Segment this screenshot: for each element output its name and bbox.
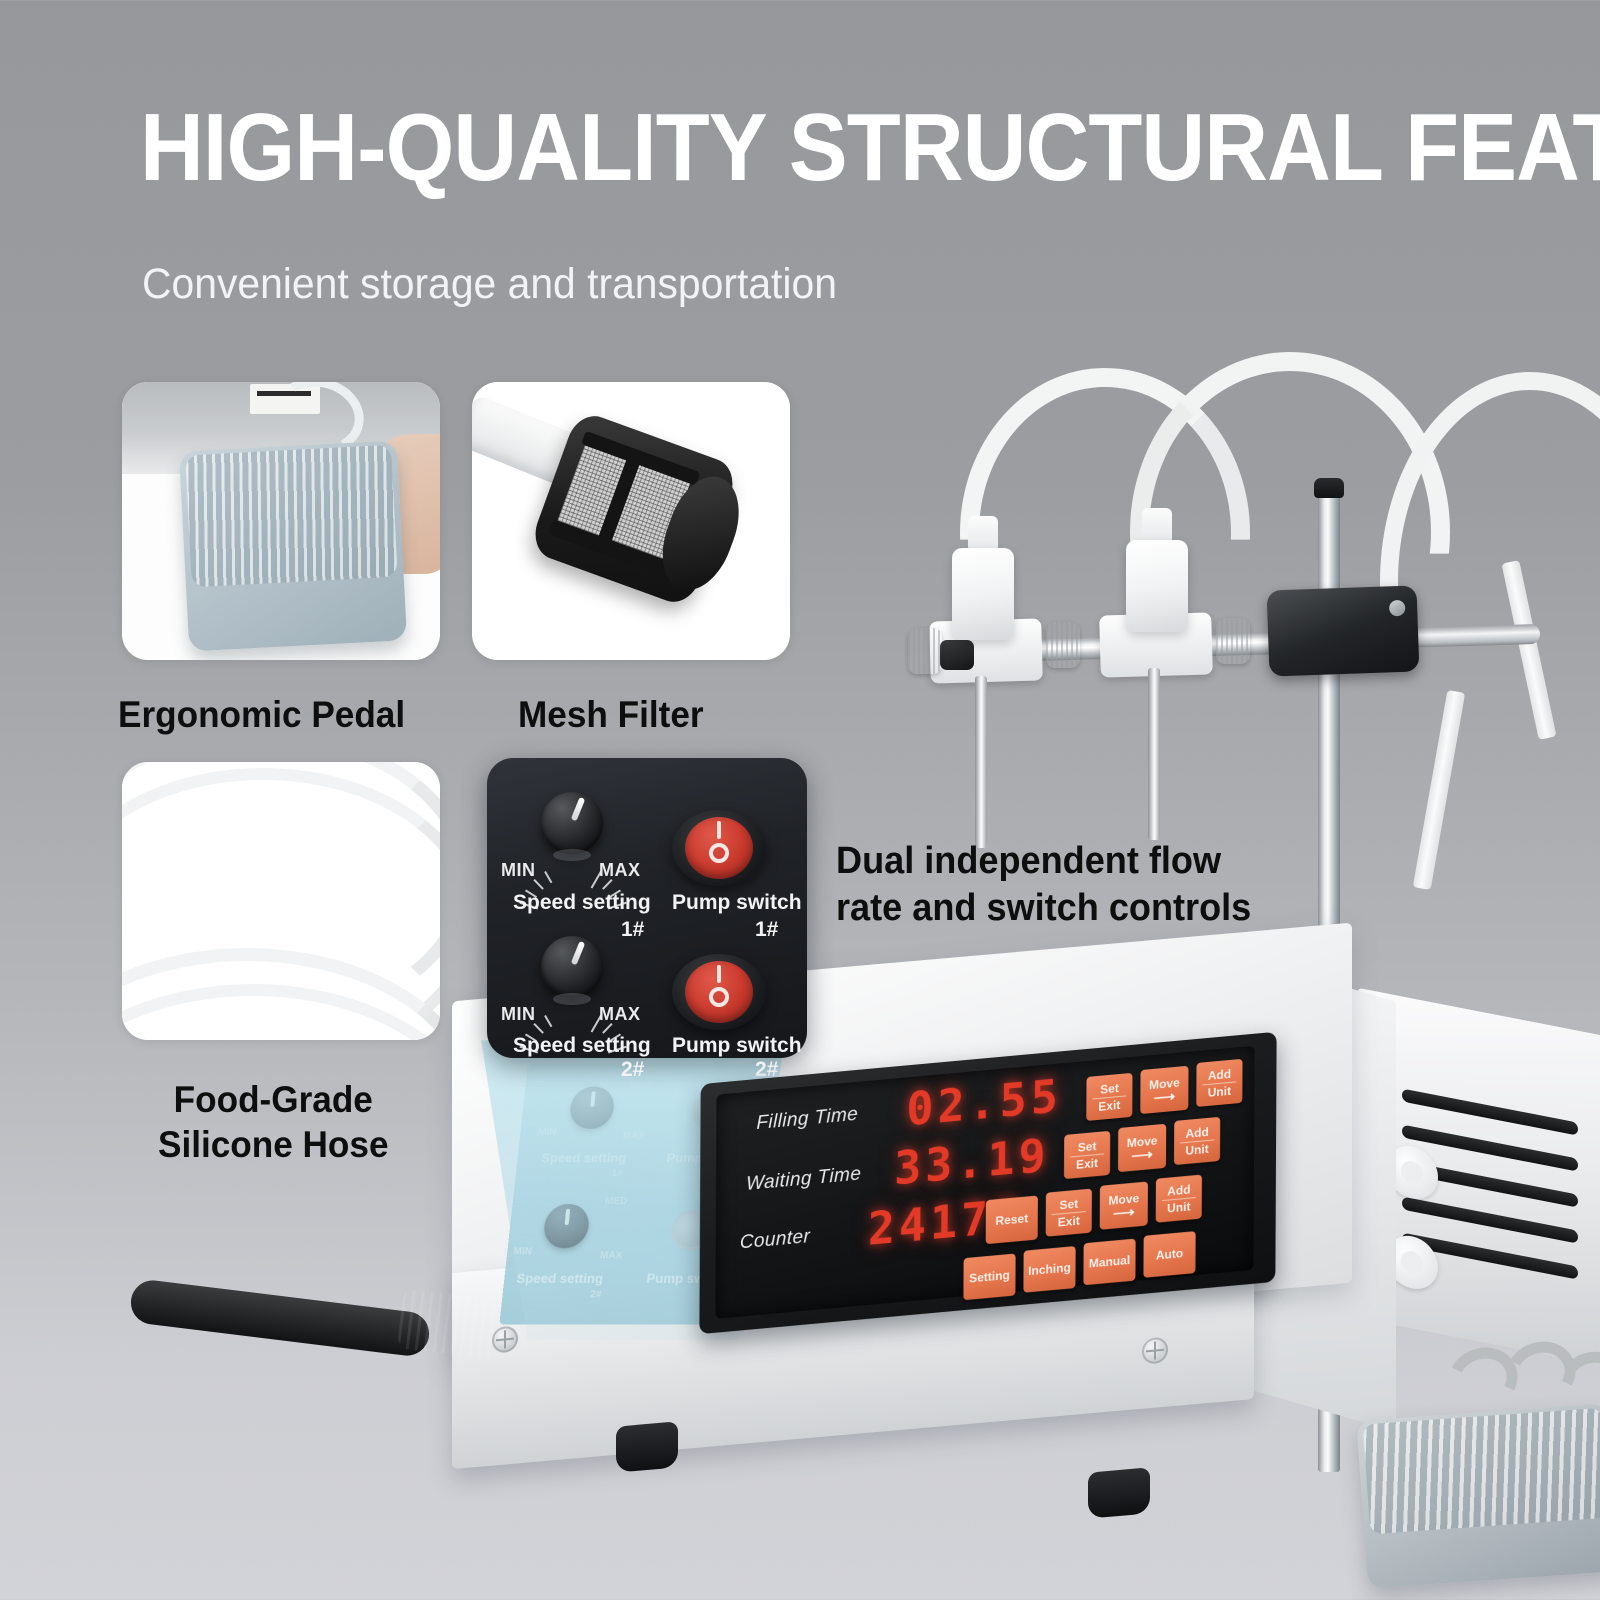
move-button-row2[interactable]: Move ⟶: [1118, 1124, 1166, 1172]
led-label-counter: Counter: [740, 1226, 811, 1254]
set-exit-button-row3[interactable]: Set Exit: [1046, 1189, 1092, 1237]
add-unit-button-row3[interactable]: Add Unit: [1156, 1175, 1202, 1223]
foot-pedal[interactable]: [1356, 1403, 1600, 1588]
silicone-tube-leg: [1413, 690, 1465, 890]
stand-post-cap: [1314, 478, 1344, 498]
speed-setting-label-1: Speed setting: [513, 891, 651, 915]
vent-slot: [1402, 1088, 1578, 1135]
switch-off-mark: [709, 843, 729, 863]
led-label-filling-time: Filling Time: [756, 1104, 858, 1135]
add-label: Add: [1167, 1182, 1190, 1198]
set-label: Set: [1100, 1081, 1119, 1097]
move-button-row3[interactable]: Move ⟶: [1100, 1181, 1148, 1229]
led-value-filling-time: 02.55: [906, 1069, 1062, 1136]
vent-slot: [1402, 1196, 1578, 1243]
pump-switch-1[interactable]: [672, 810, 766, 886]
unit-label: Unit: [1208, 1083, 1231, 1099]
auto-label: Auto: [1156, 1246, 1183, 1262]
feature-thumbnail-mesh-filter: [472, 382, 790, 660]
post-clamp-block[interactable]: [1267, 585, 1420, 676]
caption-silicone-hose: Food-Grade Silicone Hose: [158, 1077, 389, 1167]
setting-label: Setting: [969, 1268, 1010, 1286]
caption-dual-flow-line1: Dual independent flow: [836, 838, 1251, 885]
filling-needle-2: [1148, 668, 1160, 840]
switch-on-mark: [717, 965, 721, 983]
pump-switch-label-1: Pump switch: [672, 891, 802, 915]
add-unit-button-row1[interactable]: Add Unit: [1196, 1059, 1242, 1107]
mode-button-inching[interactable]: Inching: [1023, 1246, 1075, 1293]
page-title: HIGH-QUALITY STRUCTURAL FEATURES: [140, 96, 1410, 200]
control-panel-callout: MIN MAX Speed setting 1# Pump switch 1#: [487, 758, 807, 1058]
speed-setting-label-2: Speed setting: [513, 1034, 651, 1058]
exit-label: Exit: [1098, 1097, 1120, 1113]
switch-off-mark: [709, 987, 729, 1007]
led-control-display[interactable]: Filling Time 02.55 Set Exit Move ⟶ Add U…: [699, 1032, 1276, 1335]
pedal-photo-body: [179, 440, 407, 651]
move-arrow-icon: ⟶: [1154, 1089, 1176, 1104]
mode-button-manual[interactable]: Manual: [1083, 1239, 1135, 1286]
set-label: Set: [1078, 1139, 1097, 1155]
set-exit-button-row1[interactable]: Set Exit: [1086, 1073, 1132, 1121]
knob-max-label-2: MAX: [599, 1004, 641, 1025]
exit-label: Exit: [1076, 1155, 1098, 1171]
move-arrow-icon: ⟶: [1113, 1205, 1135, 1220]
nozzle-fitting-1: [952, 548, 1014, 640]
add-label: Add: [1208, 1066, 1231, 1082]
set-exit-button-row2[interactable]: Set Exit: [1064, 1131, 1110, 1179]
reset-label: Reset: [995, 1211, 1028, 1228]
caption-silicone-hose-line2: Silicone Hose: [158, 1122, 389, 1167]
pedal-photo-tread: [185, 445, 398, 588]
manual-label: Manual: [1089, 1253, 1130, 1271]
nozzle-fitting-2: [1126, 540, 1188, 632]
machine-foot: [616, 1421, 678, 1472]
pump-switch-2[interactable]: [672, 954, 766, 1030]
add-label: Add: [1185, 1124, 1208, 1140]
switch-on-mark: [717, 821, 721, 839]
nozzle-neck-2: [1142, 508, 1172, 544]
pump-switch-num-1: 1#: [755, 918, 778, 942]
machine-foot: [1088, 1467, 1150, 1518]
speed-setting-num-2: 2#: [621, 1058, 644, 1082]
speed-knob-1[interactable]: [541, 792, 603, 854]
set-label: Set: [1059, 1196, 1078, 1212]
knob-min-label-1: MIN: [501, 860, 536, 881]
inching-label: Inching: [1028, 1260, 1071, 1278]
move-arrow-icon: ⟶: [1131, 1147, 1153, 1162]
pedal-photo: [122, 382, 440, 660]
knob-max-label-1: MAX: [599, 860, 641, 881]
move-button-row1[interactable]: Move ⟶: [1140, 1066, 1188, 1114]
speed-knob-2[interactable]: [541, 936, 603, 998]
power-plug: [397, 1288, 500, 1359]
foot-pedal-tread: [1363, 1408, 1600, 1534]
crossbar-end-cap: [940, 640, 974, 670]
page-subtitle: Convenient storage and transportation: [142, 258, 837, 310]
nozzle-neck-1: [968, 516, 998, 552]
add-unit-button-row2[interactable]: Add Unit: [1174, 1117, 1220, 1165]
panel-screw: [492, 1325, 518, 1353]
knob-min-label-2: MIN: [501, 1004, 536, 1025]
unit-label: Unit: [1185, 1141, 1208, 1157]
pump-switch-label-2: Pump switch: [672, 1034, 802, 1058]
silicone-hose-photo: [122, 762, 440, 1040]
power-cord: [128, 1278, 431, 1358]
caption-silicone-hose-line1: Food-Grade: [158, 1077, 389, 1122]
mode-button-setting[interactable]: Setting: [963, 1253, 1015, 1300]
thumbscrew[interactable]: [1046, 622, 1080, 668]
filling-needle-1: [975, 676, 987, 848]
exit-label: Exit: [1058, 1213, 1080, 1229]
led-value-waiting-time: 33.19: [894, 1128, 1050, 1195]
caption-ergonomic-pedal: Ergonomic Pedal: [118, 692, 405, 737]
mode-button-auto[interactable]: Auto: [1143, 1231, 1195, 1278]
unit-label: Unit: [1167, 1199, 1190, 1215]
feature-thumbnail-silicone-hose: [122, 762, 440, 1040]
infographic-canvas: HIGH-QUALITY STRUCTURAL FEATURES Conveni…: [0, 0, 1600, 1600]
led-label-waiting-time: Waiting Time: [746, 1164, 861, 1196]
caption-dual-flow-line2: rate and switch controls: [836, 885, 1251, 932]
reset-button[interactable]: Reset: [986, 1195, 1038, 1244]
caption-mesh-filter: Mesh Filter: [518, 692, 704, 737]
panel-screw: [1142, 1336, 1168, 1364]
thumbscrew[interactable]: [1216, 618, 1250, 664]
caption-dual-flow: Dual independent flow rate and switch co…: [836, 838, 1251, 932]
thumbscrew[interactable]: [908, 628, 942, 674]
led-display-face: Filling Time 02.55 Set Exit Move ⟶ Add U…: [715, 1046, 1254, 1319]
feature-thumbnail-ergonomic-pedal: [122, 382, 440, 660]
mesh-filter-photo: [472, 382, 790, 660]
